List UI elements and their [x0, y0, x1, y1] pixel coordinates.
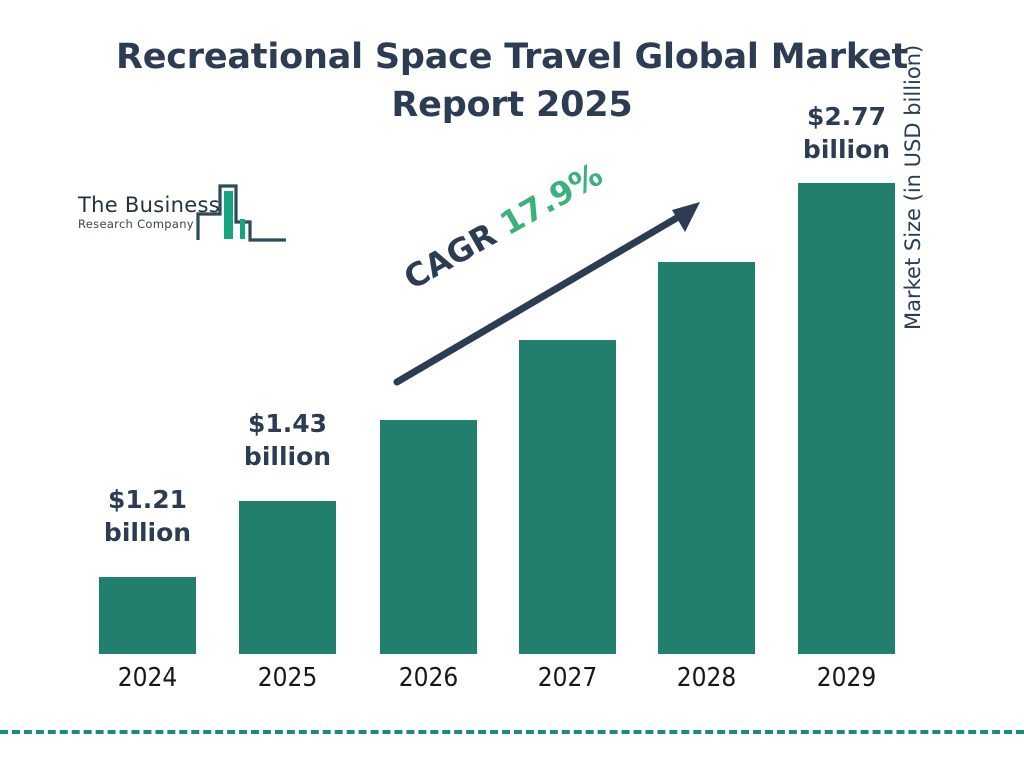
x-tick-label-2027: 2027	[519, 663, 616, 693]
bar-2029	[798, 183, 895, 654]
cagr-word: CAGR	[398, 215, 503, 297]
y-axis-title: Market Size (in USD billion)	[893, 0, 933, 330]
cagr-value: 17.9%	[494, 155, 609, 243]
company-logo: The Business Research Company	[78, 178, 288, 250]
bar-2028	[658, 262, 755, 654]
bar-2027	[519, 340, 616, 654]
bar-value-label-2024: $1.21 billion	[77, 483, 218, 549]
bar-2024	[99, 577, 196, 654]
x-tick-label-2026: 2026	[380, 663, 477, 693]
x-tick-label-2028: 2028	[658, 663, 755, 693]
bar-chart-skyline-logo-mark	[196, 178, 288, 244]
x-tick-label-2024: 2024	[99, 663, 196, 693]
bar-2025	[239, 501, 336, 654]
x-tick-label-2025: 2025	[239, 663, 336, 693]
x-tick-label-2029: 2029	[798, 663, 895, 693]
logo-line-1: The Business	[78, 194, 208, 217]
logo-line-2: Research Company	[78, 217, 208, 232]
logo-wordmark: The Business Research Company	[78, 194, 208, 232]
footer-divider	[0, 730, 1024, 734]
cagr-label: CAGR 17.9%	[398, 156, 608, 296]
chart-canvas: Recreational Space Travel Global Market …	[0, 0, 1024, 768]
bar-value-label-2025: $1.43 billion	[217, 407, 358, 473]
bar-2026	[380, 420, 477, 654]
